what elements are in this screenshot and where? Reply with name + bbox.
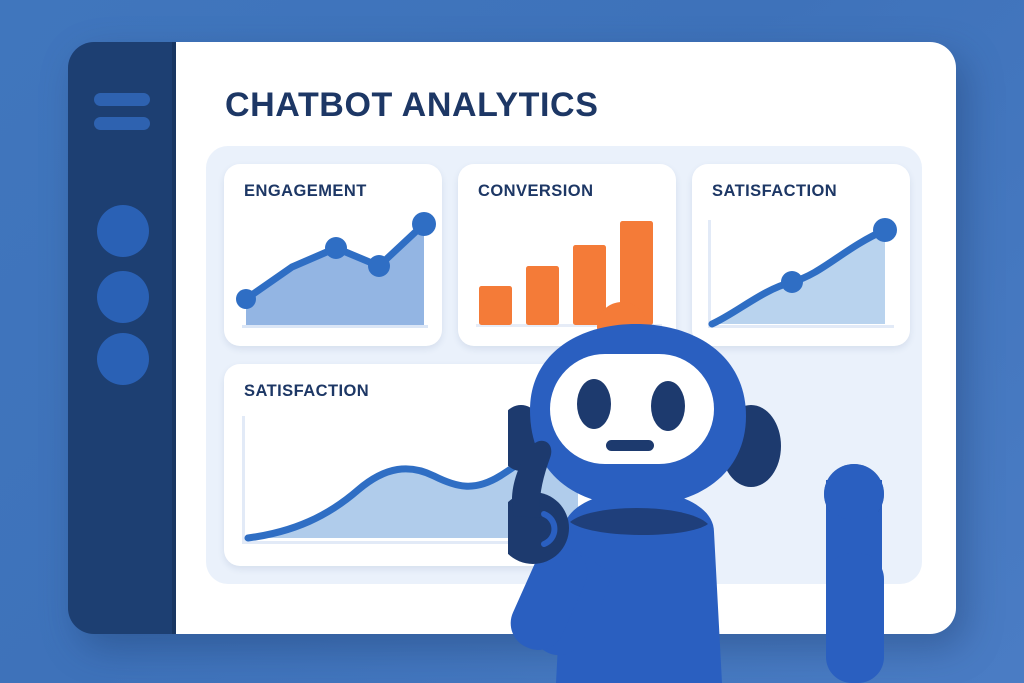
robot-head bbox=[530, 324, 746, 506]
card-satisfaction-title: SATISFACTION bbox=[712, 182, 837, 201]
sidebar-item-2[interactable] bbox=[97, 271, 149, 323]
page-title: CHATBOT ANALYTICS bbox=[225, 86, 599, 125]
chatbot-mascot bbox=[508, 298, 928, 683]
sidebar bbox=[68, 42, 176, 634]
card-engagement[interactable]: ENGAGEMENT bbox=[224, 164, 442, 346]
robot-mouth bbox=[606, 440, 654, 451]
card-conversion-title: CONVERSION bbox=[478, 182, 593, 201]
hamburger-bar-top bbox=[94, 93, 150, 106]
sidebar-item-1[interactable] bbox=[97, 205, 149, 257]
sidebar-item-3[interactable] bbox=[97, 333, 149, 385]
card-engagement-title: ENGAGEMENT bbox=[244, 182, 367, 201]
hamburger-bar-bottom bbox=[94, 117, 150, 130]
engagement-line-chart bbox=[224, 204, 442, 346]
robot-eye-right bbox=[651, 381, 685, 431]
robot-right-arm bbox=[824, 464, 884, 683]
card-satisfaction-wide-title: SATISFACTION bbox=[244, 382, 369, 401]
robot-eye-left bbox=[577, 379, 611, 429]
